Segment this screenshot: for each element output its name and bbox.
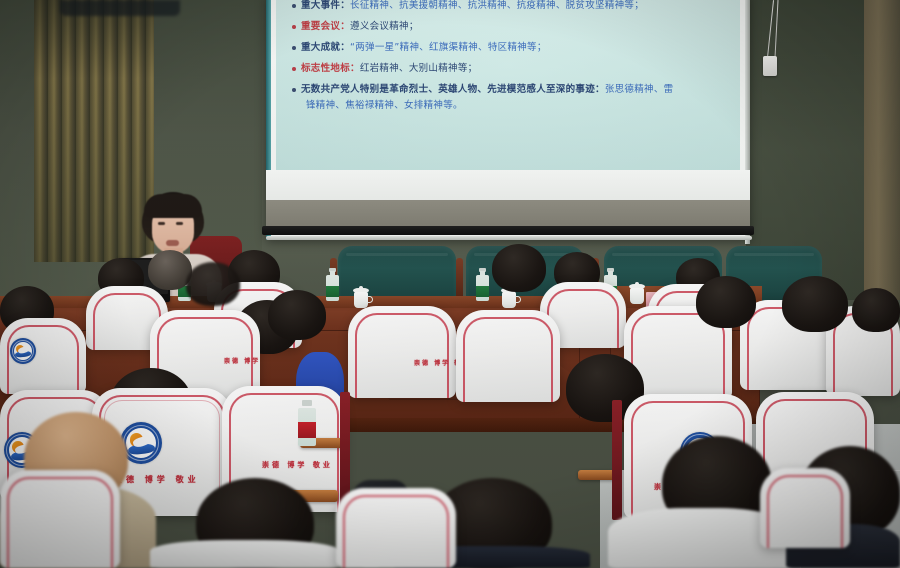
far-right-wood-column [864,0,900,300]
attendee-shoulders [150,540,340,568]
slide-line-3-content: “两弹一星”精神、红旗渠精神、特区精神等； [350,42,547,54]
cup-body [630,288,644,304]
slide-line-4-label: 标志性地标： [301,63,360,75]
bottle-label [476,286,489,297]
auditorium-seat[interactable] [0,318,86,394]
slide-line-4: 标志性地标： 红岩精神、大别山精神等； [292,63,730,75]
slide-line-4-content: 红岩精神、大别山精神等； [360,63,478,75]
screen-lower-white-band [266,170,750,202]
emblem-ring [123,425,160,462]
tea-cup[interactable] [352,288,370,308]
slide-line-5-label: 无数共产党人特别是革命烈士、英雄人物、先进模范感人至深的事迹： [301,84,605,96]
bullet-icon [292,67,296,71]
slide-line-2-label: 重要会议： [301,21,350,33]
attendee-head [782,276,848,332]
bottle-cap [302,400,312,406]
seat-slogan: 崇德 博学 敬业 [414,358,456,367]
seat-slogan: 崇德 博学 敬业 [114,474,200,485]
seat-piping [7,477,113,568]
tea-cup[interactable] [628,284,646,304]
bottle-label [298,422,316,438]
auditorium-seat[interactable] [456,310,560,402]
screen-lower-grey-band [266,200,750,228]
slide-line-3: 重大成就： “两弹一星”精神、红旗渠精神、特区精神等； [292,42,730,54]
seat-slogan: 崇德 博学 敬业 [224,356,260,365]
slide-line-2: 重要会议： 遵义会议精神； [292,21,730,33]
water-bottle[interactable] [326,268,339,301]
auditorium-seat[interactable]: 崇德 博学 敬业 [348,306,456,398]
presenter-mouth [166,240,179,246]
cup-body [354,292,368,308]
seat-piping [355,313,449,398]
bottle-label [326,286,339,297]
slide-line-5-continuation: 锋精神、焦裕禄精神、女排精神等。 [306,100,730,112]
seat-piping [463,317,553,402]
seat-leg [612,400,622,520]
attendee-head [696,276,756,328]
auditorium-seat[interactable] [760,468,850,548]
slide-line-5: 无数共产党人特别是革命烈士、英雄人物、先进模范感人至深的事迹： 张思德精神、雷 [292,84,730,96]
bullet-icon [292,46,296,50]
seat-piping [767,475,843,548]
institution-emblem-icon [10,338,36,364]
slide-line-2-content: 遵义会议精神； [350,21,419,33]
attendee-head [852,288,900,332]
bullet-icon [292,25,296,29]
attendee-head [186,262,240,306]
presenter-eye-left [158,222,165,225]
seat-piping [343,495,449,568]
presentation-slide: 重大事件： 长征精神、抗美援朝精神、抗洪精神、抗疫精神、脱贫攻坚精神等； 重要会… [276,0,740,170]
screen-bar-highlight [266,236,752,240]
presenter-eye-right [176,222,183,225]
screen-bottom-bar [262,226,754,235]
attendee-head [268,290,326,340]
bullet-icon [292,88,296,92]
slide-line-1-content: 长征精神、抗美援朝精神、抗洪精神、抗疫精神、脱贫攻坚精神等； [350,0,644,12]
slide-line-1: 重大事件： 长征精神、抗美援朝精神、抗洪精神、抗疫精神、脱贫攻坚精神等； [292,0,730,12]
ceiling-shadow [60,0,180,16]
slide-line-1-label: 重大事件： [301,0,350,12]
bullet-icon [292,4,296,8]
presenter-fringe [144,194,202,218]
water-bottle[interactable] [476,268,489,301]
seat-slogan: 崇德 博学 敬业 [262,460,333,470]
slide-line-3-label: 重大成就： [301,42,350,54]
emblem-ring [12,340,35,363]
attendee-head [492,244,546,292]
slide-line-5-content: 张思德精神、雷 [605,84,674,96]
cup-body [502,292,516,308]
auditorium-seat[interactable] [336,488,456,568]
conference-room-photo: 重大事件： 长征精神、抗美援朝精神、抗洪精神、抗疫精神、脱贫攻坚精神等； 重要会… [0,0,900,568]
chair-armrest [456,258,463,300]
auditorium-seat[interactable] [0,470,120,568]
slide-continuation-text: 锋精神、焦裕禄精神、女排精神等。 [306,100,463,112]
armrest-water-bottle[interactable] [298,400,316,446]
pull-cord-handle-icon[interactable] [763,56,777,76]
